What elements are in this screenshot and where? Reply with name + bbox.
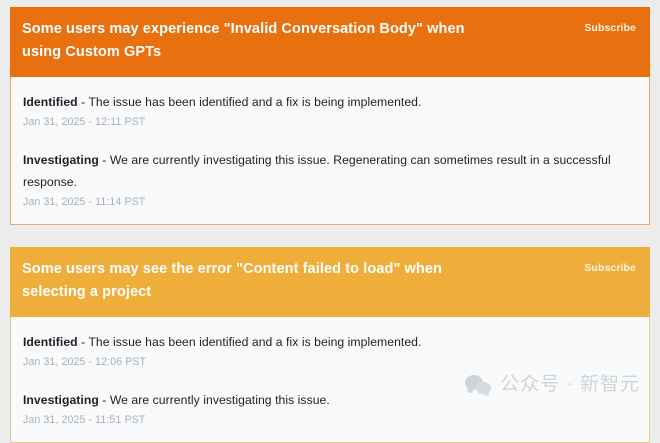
update-message: The issue has been identified and a fix … [88, 335, 421, 349]
update-timestamp: Jan 31, 2025 - 11:51 PST [23, 412, 635, 429]
subscribe-link[interactable]: Subscribe [584, 258, 636, 275]
update-entry: Investigating - We are currently investi… [23, 149, 635, 211]
update-status: Identified [23, 95, 78, 109]
update-text: Identified - The issue has been identifi… [23, 331, 635, 353]
incident-card: Some users may experience "Invalid Conve… [10, 7, 650, 225]
update-timestamp: Jan 31, 2025 - 11:14 PST [23, 194, 635, 211]
update-timestamp: Jan 31, 2025 - 12:11 PST [23, 114, 635, 131]
update-separator: - [99, 153, 110, 167]
update-separator: - [78, 95, 89, 109]
update-message: The issue has been identified and a fix … [88, 95, 421, 109]
update-separator: - [78, 335, 89, 349]
update-status: Investigating [23, 393, 99, 407]
update-timestamp: Jan 31, 2025 - 12:06 PST [23, 354, 635, 371]
status-page: Some users may experience "Invalid Conve… [0, 0, 660, 414]
incident-title: Some users may see the error "Content fa… [22, 258, 492, 304]
incident-title: Some users may experience "Invalid Conve… [22, 18, 492, 64]
update-status: Identified [23, 335, 78, 349]
update-status: Investigating [23, 153, 99, 167]
update-entry: Identified - The issue has been identifi… [23, 331, 635, 371]
subscribe-link[interactable]: Subscribe [584, 18, 636, 35]
update-entry: Investigating - We are currently investi… [23, 389, 635, 429]
update-message: We are currently investigating this issu… [23, 153, 611, 189]
incident-header: Some users may experience "Invalid Conve… [10, 7, 650, 77]
update-entry: Identified - The issue has been identifi… [23, 91, 635, 131]
update-text: Investigating - We are currently investi… [23, 149, 635, 193]
update-separator: - [99, 393, 110, 407]
incident-updates: Identified - The issue has been identifi… [10, 317, 650, 443]
update-text: Identified - The issue has been identifi… [23, 91, 635, 113]
update-text: Investigating - We are currently investi… [23, 389, 635, 411]
incident-updates: Identified - The issue has been identifi… [10, 77, 650, 225]
incident-header: Some users may see the error "Content fa… [10, 247, 650, 317]
update-message: We are currently investigating this issu… [110, 393, 330, 407]
